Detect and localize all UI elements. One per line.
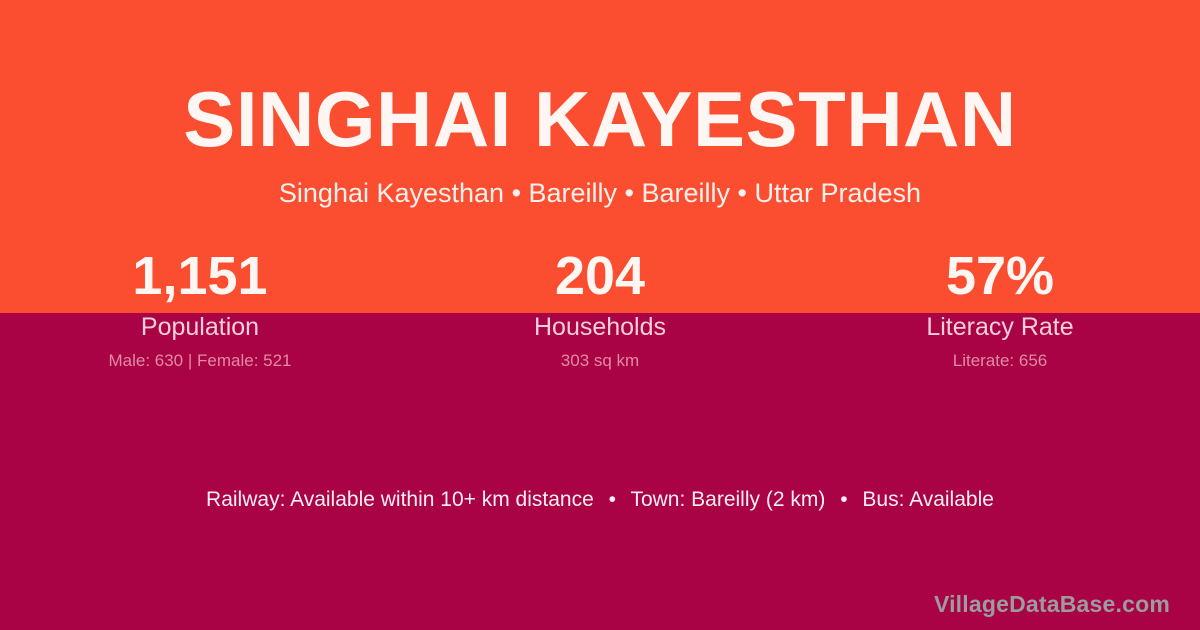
stat-population: 1,151 Population Male: 630 | Female: 521: [0, 246, 400, 371]
stats-row: 1,151 Population Male: 630 | Female: 521…: [0, 246, 1200, 371]
stat-literacy-rate: 57% Literacy Rate Literate: 656: [800, 246, 1200, 371]
stat-label: Households: [400, 313, 800, 341]
amenity-bus: Bus: Available: [862, 488, 994, 511]
amenity-railway: Railway: Available within 10+ km distanc…: [206, 488, 594, 511]
header: SINGHAI KAYESTHAN Singhai Kayesthan • Ba…: [0, 0, 1200, 208]
page-title: SINGHAI KAYESTHAN: [0, 0, 1200, 158]
stat-value: 1,151: [0, 246, 400, 306]
stat-subtext: 303 sq km: [400, 351, 800, 371]
village-info-card: SINGHAI KAYESTHAN Singhai Kayesthan • Ba…: [0, 0, 1200, 630]
stat-label: Population: [0, 313, 400, 341]
stat-subtext: Male: 630 | Female: 521: [0, 351, 400, 371]
site-branding: VillageDataBase.com: [934, 590, 1170, 618]
amenity-separator: •: [831, 488, 856, 511]
stat-value: 204: [400, 246, 800, 306]
amenity-town: Town: Bareilly (2 km): [630, 488, 825, 511]
stat-households: 204 Households 303 sq km: [400, 246, 800, 371]
stat-subtext: Literate: 656: [800, 351, 1200, 371]
breadcrumb: Singhai Kayesthan • Bareilly • Bareilly …: [0, 158, 1200, 208]
stat-value: 57%: [800, 246, 1200, 306]
amenities-line: Railway: Available within 10+ km distanc…: [0, 486, 1200, 514]
amenity-separator: •: [600, 488, 625, 511]
stat-label: Literacy Rate: [800, 313, 1200, 341]
